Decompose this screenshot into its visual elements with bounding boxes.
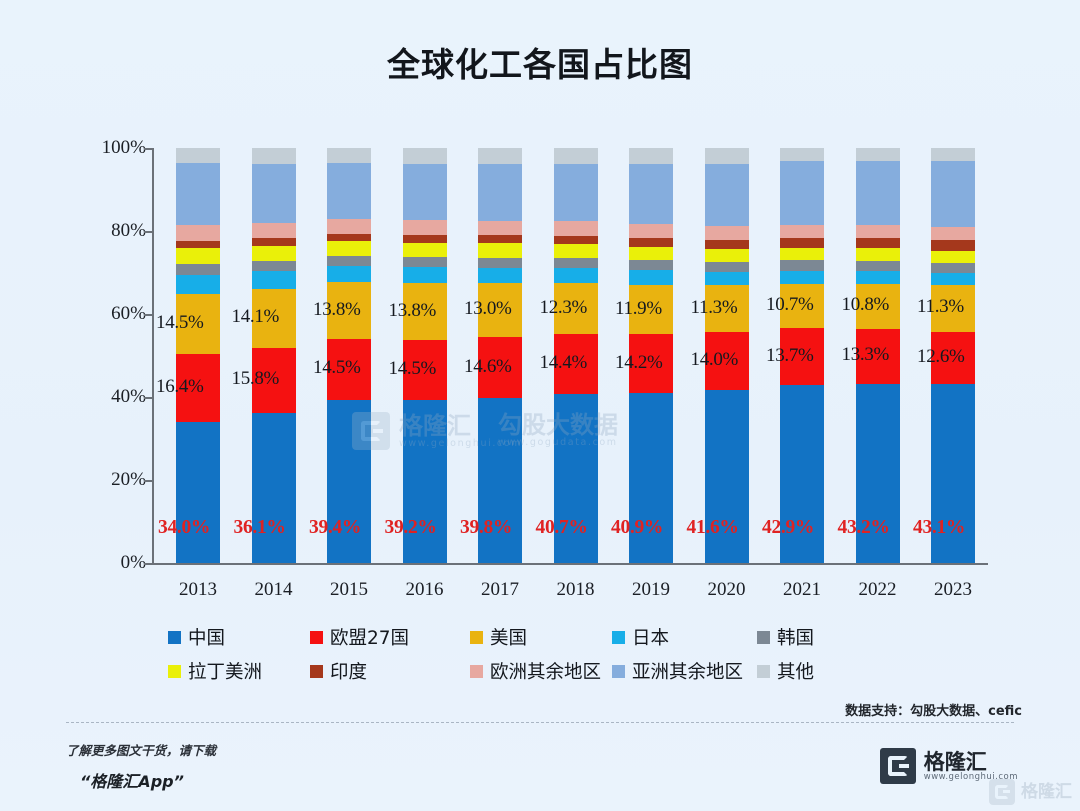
watermark-corner: 格隆汇 bbox=[989, 779, 1072, 805]
watermark-name: 格隆汇 bbox=[1021, 783, 1072, 802]
x-axis-tick-label: 2013 bbox=[168, 579, 228, 601]
bar-segment[interactable] bbox=[856, 271, 900, 283]
legend-label: 美国 bbox=[490, 624, 527, 650]
bar-segment[interactable] bbox=[327, 148, 371, 163]
bar-segment[interactable] bbox=[327, 219, 371, 234]
legend-label: 拉丁美洲 bbox=[188, 658, 262, 684]
bar-segment[interactable] bbox=[931, 251, 975, 263]
bar-segment[interactable] bbox=[403, 267, 447, 283]
x-axis-tick-label: 2019 bbox=[621, 579, 681, 601]
footer-promo-line: 了解更多图文干货，请下载 bbox=[66, 740, 216, 759]
bar-stack bbox=[327, 148, 371, 563]
bar-stack bbox=[252, 148, 296, 563]
bar-segment[interactable] bbox=[252, 271, 296, 289]
page-title: 全球化工各国占比图 bbox=[0, 38, 1080, 86]
bar-segment[interactable] bbox=[478, 235, 522, 243]
legend-item[interactable]: 美国 bbox=[470, 624, 612, 650]
x-axis-tick-label: 2022 bbox=[848, 579, 908, 601]
bar-segment[interactable] bbox=[856, 261, 900, 271]
bar-value-label: 13.0% bbox=[464, 298, 512, 320]
bar-column[interactable]: 36.1%15.8%14.1% bbox=[252, 148, 296, 563]
footer-app-name: “格隆汇App” bbox=[80, 768, 216, 792]
bar-segment[interactable] bbox=[554, 244, 598, 258]
bar-column[interactable]: 39.8%14.6%13.0% bbox=[478, 148, 522, 563]
bar-value-label: 16.4% bbox=[156, 376, 204, 398]
bar-segment[interactable] bbox=[629, 260, 673, 270]
bar-segment[interactable] bbox=[780, 161, 824, 225]
bar-segment[interactable] bbox=[252, 148, 296, 164]
bar-value-label: 10.8% bbox=[842, 294, 890, 316]
footer-divider bbox=[66, 722, 1014, 723]
bar-segment[interactable] bbox=[252, 246, 296, 262]
bar-segment[interactable] bbox=[478, 243, 522, 257]
bar-value-label: 40.7% bbox=[536, 517, 588, 539]
bar-value-label: 13.8% bbox=[389, 300, 437, 322]
bar-segment[interactable] bbox=[252, 261, 296, 271]
bar-segment[interactable] bbox=[554, 258, 598, 268]
bar-segment[interactable] bbox=[856, 148, 900, 161]
legend-swatch-icon bbox=[612, 631, 625, 644]
bar-segment[interactable] bbox=[176, 163, 220, 224]
bar-segment[interactable] bbox=[780, 260, 824, 270]
bar-value-label: 12.3% bbox=[540, 297, 588, 319]
bar-value-label: 39.2% bbox=[385, 517, 437, 539]
y-axis-tick bbox=[144, 314, 153, 316]
bar-column[interactable]: 39.2%14.5%13.8% bbox=[403, 148, 447, 563]
bar-segment[interactable] bbox=[554, 268, 598, 283]
legend-row: 拉丁美洲印度欧洲其余地区亚洲其余地区其他 bbox=[168, 654, 1008, 688]
bar-segment[interactable] bbox=[176, 148, 220, 163]
legend-item[interactable]: 欧洲其余地区 bbox=[470, 658, 612, 684]
bar-segment[interactable] bbox=[554, 221, 598, 235]
bar-value-label: 36.1% bbox=[234, 517, 286, 539]
bar-segment[interactable] bbox=[931, 161, 975, 227]
bar-segment[interactable] bbox=[252, 238, 296, 245]
bar-segment[interactable] bbox=[327, 266, 371, 282]
bar-segment[interactable] bbox=[780, 238, 824, 248]
bar-segment[interactable] bbox=[780, 248, 824, 261]
bar-segment[interactable] bbox=[780, 225, 824, 238]
bar-value-label: 14.0% bbox=[691, 349, 739, 371]
bar-column[interactable]: 34.0%16.4%14.5% bbox=[176, 148, 220, 563]
bar-value-label: 11.3% bbox=[691, 297, 738, 319]
bar-value-label: 11.3% bbox=[917, 296, 964, 318]
y-axis-tick-label: 40% bbox=[111, 386, 146, 408]
bar-column[interactable]: 40.9%14.2%11.9% bbox=[629, 148, 673, 563]
x-axis-line bbox=[152, 563, 988, 565]
bar-segment[interactable] bbox=[403, 220, 447, 235]
bar-column[interactable]: 39.4%14.5%13.8% bbox=[327, 148, 371, 563]
legend-label: 欧盟27国 bbox=[330, 624, 409, 650]
y-axis-line bbox=[152, 148, 154, 563]
x-axis-tick-label: 2017 bbox=[470, 579, 530, 601]
bar-segment[interactable] bbox=[252, 223, 296, 238]
bar-segment[interactable] bbox=[403, 235, 447, 243]
bar-segment[interactable] bbox=[856, 225, 900, 238]
bar-segment[interactable] bbox=[931, 148, 975, 161]
bar-value-label: 14.5% bbox=[156, 312, 204, 334]
legend-swatch-icon bbox=[168, 665, 181, 678]
bar-segment[interactable] bbox=[403, 164, 447, 220]
bar-segment[interactable] bbox=[629, 148, 673, 164]
bar-segment[interactable] bbox=[403, 243, 447, 257]
bar-value-label: 13.3% bbox=[842, 344, 890, 366]
bar-segment[interactable] bbox=[856, 248, 900, 261]
legend-label: 其他 bbox=[777, 658, 814, 684]
bar-value-label: 12.6% bbox=[917, 346, 965, 368]
legend-swatch-icon bbox=[757, 631, 770, 644]
bar-segment[interactable] bbox=[856, 238, 900, 248]
y-axis-tick-label: 60% bbox=[111, 303, 146, 325]
bar-segment[interactable] bbox=[327, 256, 371, 266]
bar-segment[interactable] bbox=[327, 241, 371, 256]
bar-segment[interactable] bbox=[629, 164, 673, 225]
legend-item[interactable]: 欧盟27国 bbox=[310, 624, 470, 650]
bar-segment[interactable] bbox=[176, 241, 220, 248]
gelonghui-logo-icon bbox=[880, 748, 916, 784]
x-axis-tick-label: 2014 bbox=[244, 579, 304, 601]
brand-name: 格隆汇 bbox=[924, 751, 1018, 773]
bar-segment[interactable] bbox=[176, 248, 220, 265]
legend-item[interactable]: 拉丁美洲 bbox=[168, 658, 310, 684]
gelonghui-logo-icon bbox=[989, 779, 1015, 805]
y-axis-tick bbox=[144, 231, 153, 233]
y-axis-tick-label: 100% bbox=[102, 137, 146, 159]
bar-value-label: 14.5% bbox=[313, 357, 361, 379]
legend-label: 韩国 bbox=[777, 624, 814, 650]
bar-segment[interactable] bbox=[856, 161, 900, 225]
legend-item[interactable]: 印度 bbox=[310, 658, 470, 684]
footer-promo: 了解更多图文干货，请下载 “格隆汇App” bbox=[66, 740, 216, 792]
bar-segment[interactable] bbox=[478, 268, 522, 283]
bar-segment[interactable] bbox=[403, 148, 447, 164]
bar-segment[interactable] bbox=[931, 227, 975, 240]
bar-segment[interactable] bbox=[403, 257, 447, 267]
bar-segment[interactable] bbox=[705, 164, 749, 226]
legend-label: 亚洲其余地区 bbox=[632, 658, 743, 684]
legend-item[interactable]: 中国 bbox=[168, 624, 310, 650]
legend-label: 中国 bbox=[188, 624, 225, 650]
bar-segment[interactable] bbox=[176, 225, 220, 241]
y-axis-tick bbox=[144, 397, 153, 399]
x-axis-tick-label: 2015 bbox=[319, 579, 379, 601]
bar-segment[interactable] bbox=[176, 422, 220, 563]
legend-item[interactable]: 亚洲其余地区 bbox=[612, 658, 757, 684]
bar-value-label: 14.4% bbox=[540, 352, 588, 374]
legend-swatch-icon bbox=[757, 665, 770, 678]
bar-segment[interactable] bbox=[931, 273, 975, 285]
y-axis-tick-label: 80% bbox=[111, 220, 146, 242]
bar-value-label: 11.9% bbox=[615, 298, 662, 320]
bar-segment[interactable] bbox=[705, 240, 749, 249]
chart-page: 全球化工各国占比图 0%20%40%60%80%100% 34.0%16.4%1… bbox=[0, 0, 1080, 811]
legend-item[interactable]: 韩国 bbox=[757, 624, 867, 650]
bar-segment[interactable] bbox=[780, 271, 824, 284]
bar-segment[interactable] bbox=[931, 240, 975, 250]
bar-segment[interactable] bbox=[478, 258, 522, 268]
legend-row: 中国欧盟27国美国日本韩国 bbox=[168, 620, 1008, 654]
bar-value-label: 34.0% bbox=[158, 517, 210, 539]
x-axis-tick-label: 2020 bbox=[697, 579, 757, 601]
bar-segment[interactable] bbox=[705, 148, 749, 164]
bar-segment[interactable] bbox=[780, 148, 824, 161]
bar-segment[interactable] bbox=[705, 226, 749, 240]
legend-swatch-icon bbox=[470, 665, 483, 678]
bar-segment[interactable] bbox=[629, 270, 673, 285]
bar-stack bbox=[403, 148, 447, 563]
bar-segment[interactable] bbox=[705, 249, 749, 262]
bar-segment[interactable] bbox=[252, 164, 296, 223]
chart-legend: 中国欧盟27国美国日本韩国拉丁美洲印度欧洲其余地区亚洲其余地区其他 bbox=[168, 620, 1008, 688]
legend-label: 印度 bbox=[330, 658, 367, 684]
bar-column[interactable]: 40.7%14.4%12.3% bbox=[554, 148, 598, 563]
bar-segment[interactable] bbox=[327, 234, 371, 242]
bar-column[interactable]: 41.6%14.0%11.3% bbox=[705, 148, 749, 563]
bar-column[interactable]: 43.1%12.6%11.3% bbox=[931, 148, 975, 563]
bar-value-label: 39.4% bbox=[309, 517, 361, 539]
bar-value-label: 14.2% bbox=[615, 352, 663, 374]
legend-swatch-icon bbox=[168, 631, 181, 644]
bar-value-label: 14.6% bbox=[464, 356, 512, 378]
bar-segment[interactable] bbox=[478, 221, 522, 236]
y-axis-labels: 0%20%40%60%80%100% bbox=[88, 148, 146, 563]
bar-segment[interactable] bbox=[705, 262, 749, 272]
y-axis-tick bbox=[144, 480, 153, 482]
bar-segment[interactable] bbox=[629, 247, 673, 260]
legend-swatch-icon bbox=[310, 665, 323, 678]
bar-segment[interactable] bbox=[554, 236, 598, 245]
bar-value-label: 41.6% bbox=[687, 517, 739, 539]
bar-value-label: 15.8% bbox=[232, 368, 280, 390]
chart-plot-area: 0%20%40%60%80%100% 34.0%16.4%14.5%36.1%1… bbox=[88, 136, 988, 576]
legend-item[interactable]: 日本 bbox=[612, 624, 757, 650]
bar-segment[interactable] bbox=[478, 148, 522, 164]
y-axis-tick-label: 0% bbox=[121, 552, 146, 574]
bar-segment[interactable] bbox=[554, 164, 598, 221]
x-axis-tick-label: 2021 bbox=[772, 579, 832, 601]
legend-swatch-icon bbox=[310, 631, 323, 644]
bar-value-label: 40.9% bbox=[611, 517, 663, 539]
x-axis-tick-label: 2016 bbox=[395, 579, 455, 601]
bar-value-label: 43.2% bbox=[838, 517, 890, 539]
bar-segment[interactable] bbox=[554, 148, 598, 164]
bar-column[interactable]: 42.9%13.7%10.7% bbox=[780, 148, 824, 563]
bar-segment[interactable] bbox=[629, 238, 673, 247]
bar-segment[interactable] bbox=[629, 224, 673, 238]
bar-value-label: 10.7% bbox=[766, 294, 814, 316]
bar-value-label: 39.8% bbox=[460, 517, 512, 539]
bar-segment[interactable] bbox=[176, 275, 220, 294]
legend-label: 日本 bbox=[632, 624, 669, 650]
bar-segment[interactable] bbox=[252, 413, 296, 563]
bar-value-label: 43.1% bbox=[913, 517, 965, 539]
bar-value-label: 42.9% bbox=[762, 517, 814, 539]
bar-segment[interactable] bbox=[176, 264, 220, 274]
bar-column[interactable]: 43.2%13.3%10.8% bbox=[856, 148, 900, 563]
bar-value-label: 13.7% bbox=[766, 345, 814, 367]
legend-item[interactable]: 其他 bbox=[757, 658, 867, 684]
legend-label: 欧洲其余地区 bbox=[490, 658, 601, 684]
x-axis-tick-label: 2018 bbox=[546, 579, 606, 601]
bar-stack bbox=[176, 148, 220, 563]
y-axis-tick-label: 20% bbox=[111, 469, 146, 491]
legend-swatch-icon bbox=[612, 665, 625, 678]
bar-series-container: 34.0%16.4%14.5%36.1%15.8%14.1%39.4%14.5%… bbox=[158, 148, 988, 563]
data-source-note: 数据支持：勾股大数据、cefic bbox=[845, 700, 1022, 719]
bar-value-label: 13.8% bbox=[313, 299, 361, 321]
x-axis-labels: 2013201420152016201720182019202020212022… bbox=[158, 579, 988, 607]
y-axis-tick bbox=[144, 148, 153, 150]
bar-segment[interactable] bbox=[478, 164, 522, 221]
bar-segment[interactable] bbox=[931, 263, 975, 273]
bar-value-label: 14.1% bbox=[232, 306, 280, 328]
bar-segment[interactable] bbox=[327, 163, 371, 219]
legend-swatch-icon bbox=[470, 631, 483, 644]
x-axis-tick-label: 2023 bbox=[923, 579, 983, 601]
bar-segment[interactable] bbox=[705, 272, 749, 286]
bar-value-label: 14.5% bbox=[389, 358, 437, 380]
